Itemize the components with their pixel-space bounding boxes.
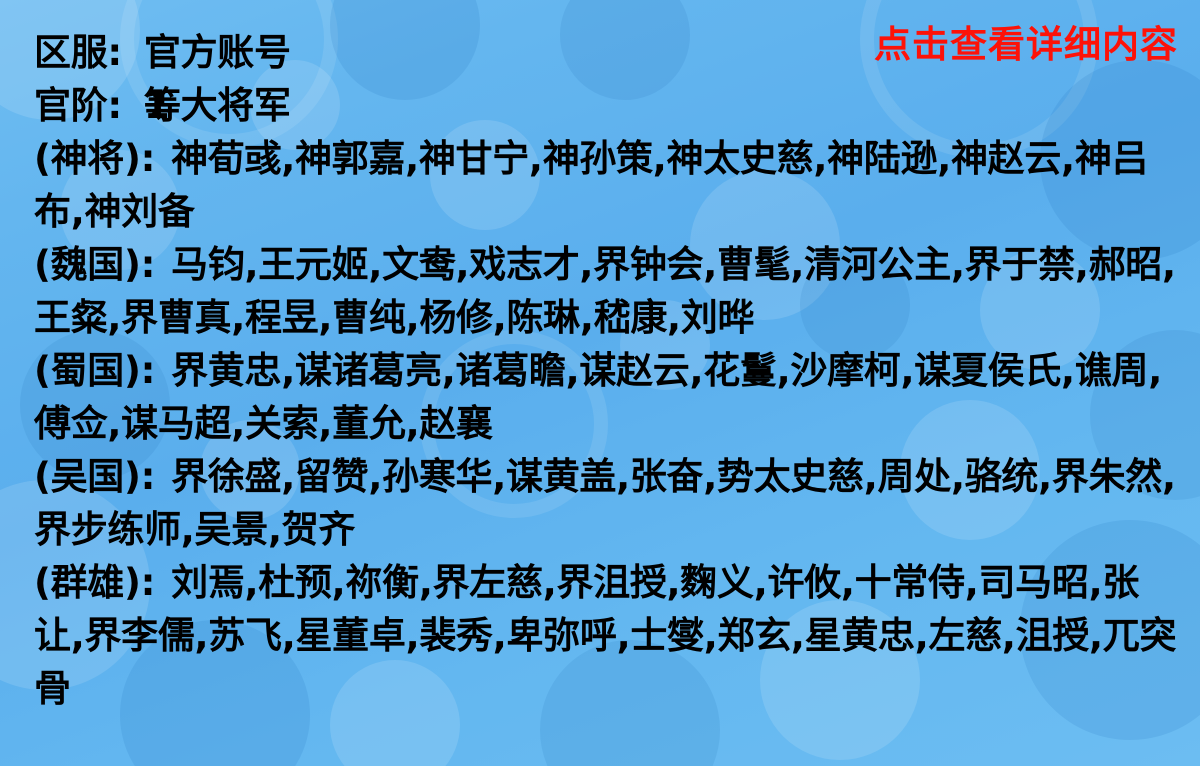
group-row-wu: (吴国):界徐盛,留赞,孙寒华,谋黄盖,张奋,势太史慈,周处,骆统,界朱然,界步… [34, 450, 1184, 556]
screenshot-root: 点击查看详细内容 区服:官方账号 官阶:1等大将军 (神将):神荀彧,神郭嘉,神… [0, 0, 1200, 766]
group-row-wei: (魏国):马钧,王元姬,文鸯,戏志才,界钟会,曹髦,清河公主,界于禁,郝昭,王粲… [34, 238, 1184, 344]
field-label-rank: 官阶: [34, 84, 122, 127]
group-label-wei: (魏国): [34, 243, 155, 286]
group-label-qunxiong: (群雄): [34, 561, 155, 604]
group-label-shenjiang: (神将): [34, 137, 155, 180]
group-members-wu: 界徐盛,留赞,孙寒华,谋黄盖,张奋,势太史慈,周处,骆统,界朱然,界步练师,吴景… [34, 455, 1176, 551]
field-row-rank: 官阶:1等大将军 [34, 79, 1184, 132]
account-info-body: 区服:官方账号 官阶:1等大将军 (神将):神荀彧,神郭嘉,神甘宁,神孙策,神太… [34, 26, 1184, 715]
group-members-qunxiong: 刘焉,杜预,祢衡,界左慈,界沮授,麴义,许攸,十常侍,司马昭,张让,界李儒,苏飞… [34, 561, 1176, 710]
field-label-server: 区服: [34, 31, 122, 74]
group-label-shu: (蜀国): [34, 349, 155, 392]
field-row-server: 区服:官方账号 [34, 26, 1184, 79]
group-row-qunxiong: (群雄):刘焉,杜预,祢衡,界左慈,界沮授,麴义,许攸,十常侍,司马昭,张让,界… [34, 556, 1184, 715]
group-members-shenjiang: 神荀彧,神郭嘉,神甘宁,神孙策,神太史慈,神陆逊,神赵云,神吕布,神刘备 [34, 137, 1148, 233]
group-row-shenjiang: (神将):神荀彧,神郭嘉,神甘宁,神孙策,神太史慈,神陆逊,神赵云,神吕布,神刘… [34, 132, 1184, 238]
group-members-shu: 界黄忠,谋诸葛亮,诸葛瞻,谋赵云,花鬘,沙摩柯,谋夏侯氏,谯周,傅佥,谋马超,关… [34, 349, 1162, 445]
group-members-wei: 马钧,王元姬,文鸯,戏志才,界钟会,曹髦,清河公主,界于禁,郝昭,王粲,界曹真,… [34, 243, 1176, 339]
field-value-server: 官方账号 [144, 31, 291, 74]
group-row-shu: (蜀国):界黄忠,谋诸葛亮,诸葛瞻,谋赵云,花鬘,沙摩柯,谋夏侯氏,谯周,傅佥,… [34, 344, 1184, 450]
group-label-wu: (吴国): [34, 455, 155, 498]
